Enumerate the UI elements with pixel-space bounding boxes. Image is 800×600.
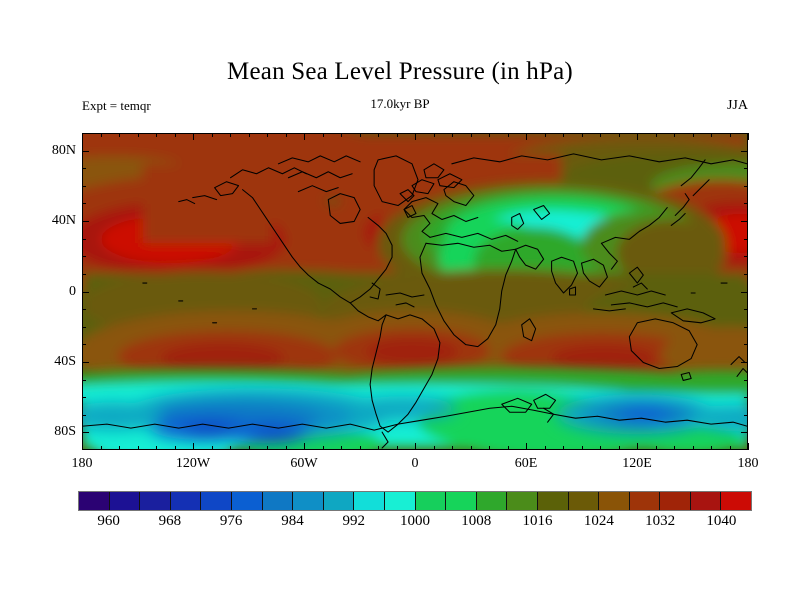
x-tick (434, 133, 435, 137)
colorbar-swatch (446, 492, 477, 510)
x-tick (748, 133, 749, 140)
y-tick (744, 203, 748, 204)
x-tick (582, 133, 583, 137)
colorbar (78, 491, 752, 511)
x-tick (286, 446, 287, 450)
colorbar-tick-label: 1040 (706, 513, 736, 530)
x-tick (489, 133, 490, 137)
colorbar-tick-label: 1016 (523, 513, 553, 530)
x-tick (193, 133, 194, 140)
x-axis-tick-label: 120W (176, 456, 210, 472)
y-tick (82, 151, 89, 152)
x-tick (730, 446, 731, 450)
y-tick (744, 274, 748, 275)
x-tick (674, 446, 675, 450)
y-tick (82, 432, 89, 433)
y-tick (744, 168, 748, 169)
x-tick (138, 446, 139, 450)
x-axis-tick-label: 180 (72, 456, 93, 472)
colorbar-swatch (416, 492, 447, 510)
x-tick (619, 446, 620, 450)
x-tick (452, 446, 453, 450)
x-tick (212, 133, 213, 137)
x-tick (693, 446, 694, 450)
colorbar-swatch (201, 492, 232, 510)
y-tick (82, 203, 86, 204)
y-tick (744, 239, 748, 240)
x-tick (526, 133, 527, 140)
y-tick (744, 344, 748, 345)
colorbar-swatch (110, 492, 141, 510)
colorbar-swatch (354, 492, 385, 510)
x-tick (323, 446, 324, 450)
y-tick (741, 151, 748, 152)
y-tick (744, 415, 748, 416)
colorbar-swatch (263, 492, 294, 510)
x-tick (508, 133, 509, 137)
x-tick (452, 133, 453, 137)
figure-canvas: Mean Sea Level Pressure (in hPa) 17.0kyr… (0, 0, 800, 600)
x-axis-tick-label: 60W (290, 456, 317, 472)
x-axis-tick-label: 60E (515, 456, 538, 472)
y-tick (82, 292, 89, 293)
x-tick (156, 446, 157, 450)
x-tick (563, 133, 564, 137)
x-tick (434, 446, 435, 450)
colorbar-tick-label: 1032 (645, 513, 675, 530)
x-tick (156, 133, 157, 137)
y-tick (82, 274, 86, 275)
colorbar-tick-label: 1000 (400, 513, 430, 530)
x-tick (656, 446, 657, 450)
x-tick (489, 446, 490, 450)
colorbar-swatch (477, 492, 508, 510)
y-tick (744, 397, 748, 398)
x-tick (415, 443, 416, 450)
x-tick (267, 446, 268, 450)
colorbar-swatch (140, 492, 171, 510)
x-tick (471, 133, 472, 137)
x-tick (249, 446, 250, 450)
x-tick (212, 446, 213, 450)
colorbar-tick-label: 1024 (584, 513, 614, 530)
chart-title: Mean Sea Level Pressure (in hPa) (0, 58, 800, 86)
colorbar-tick-label: 960 (97, 513, 120, 530)
colorbar-swatch (293, 492, 324, 510)
y-tick (82, 239, 86, 240)
x-tick (656, 133, 657, 137)
y-tick (744, 380, 748, 381)
colorbar-swatch (324, 492, 355, 510)
y-tick (744, 256, 748, 257)
x-tick (119, 133, 120, 137)
colorbar-swatch (691, 492, 722, 510)
x-axis-tick-label: 120E (622, 456, 652, 472)
x-tick (101, 133, 102, 137)
y-tick (82, 344, 86, 345)
y-tick (82, 309, 86, 310)
colorbar-swatch (232, 492, 263, 510)
x-tick (674, 133, 675, 137)
x-tick (637, 133, 638, 140)
colorbar-swatch (630, 492, 661, 510)
colorbar-tick-label: 1008 (461, 513, 491, 530)
y-tick (82, 168, 86, 169)
y-tick (82, 221, 89, 222)
y-tick (82, 362, 89, 363)
x-tick (471, 446, 472, 450)
y-axis-tick-label: 40N (34, 213, 76, 229)
x-tick (175, 446, 176, 450)
colorbar-swatch (569, 492, 600, 510)
y-tick (82, 327, 86, 328)
season-label: JJA (727, 98, 748, 114)
x-tick (619, 133, 620, 137)
y-tick (82, 415, 86, 416)
x-tick (82, 443, 83, 450)
y-tick (741, 292, 748, 293)
x-tick (249, 133, 250, 137)
x-tick (693, 133, 694, 137)
colorbar-tick-label: 992 (342, 513, 365, 530)
colorbar-tick-label: 968 (159, 513, 182, 530)
x-tick (415, 133, 416, 140)
x-tick (119, 446, 120, 450)
x-tick (582, 446, 583, 450)
x-tick (711, 446, 712, 450)
colorbar-tick-label: 984 (281, 513, 304, 530)
x-axis-tick-label: 180 (738, 456, 759, 472)
x-tick (230, 133, 231, 137)
x-tick (711, 133, 712, 137)
colorbar-swatch (385, 492, 416, 510)
x-tick (101, 446, 102, 450)
x-tick (378, 133, 379, 137)
y-tick (744, 327, 748, 328)
y-axis-tick-label: 0 (34, 284, 76, 300)
colorbar-swatch (171, 492, 202, 510)
x-tick (378, 446, 379, 450)
y-tick (82, 397, 86, 398)
x-tick (360, 446, 361, 450)
colorbar-swatch (721, 492, 751, 510)
y-tick (744, 309, 748, 310)
colorbar-swatch (79, 492, 110, 510)
y-tick (744, 186, 748, 187)
x-tick (637, 443, 638, 450)
x-tick (508, 446, 509, 450)
x-tick (175, 133, 176, 137)
x-tick (304, 443, 305, 450)
y-tick (82, 380, 86, 381)
x-tick (341, 133, 342, 137)
map-plot-area (82, 133, 748, 450)
x-tick (397, 133, 398, 137)
colorbar-swatch (507, 492, 538, 510)
x-tick (397, 446, 398, 450)
colorbar-tick-label: 976 (220, 513, 243, 530)
x-tick (545, 133, 546, 137)
y-axis-tick-label: 80N (34, 143, 76, 159)
x-tick (193, 443, 194, 450)
x-tick (526, 443, 527, 450)
colorbar-swatch (538, 492, 569, 510)
x-tick (82, 133, 83, 140)
x-tick (341, 446, 342, 450)
x-tick (600, 133, 601, 137)
x-tick (267, 133, 268, 137)
x-tick (730, 133, 731, 137)
experiment-label: Expt = temqr (82, 98, 151, 114)
colorbar-swatch (660, 492, 691, 510)
y-tick (741, 432, 748, 433)
x-tick (748, 443, 749, 450)
y-tick (741, 362, 748, 363)
x-tick (230, 446, 231, 450)
x-tick (323, 133, 324, 137)
pressure-field (83, 134, 747, 449)
x-tick (138, 133, 139, 137)
y-tick (741, 221, 748, 222)
x-tick (600, 446, 601, 450)
x-tick (360, 133, 361, 137)
x-tick (563, 446, 564, 450)
y-axis-tick-label: 80S (34, 424, 76, 440)
colorbar-swatch (599, 492, 630, 510)
x-tick (286, 133, 287, 137)
x-axis-tick-label: 0 (412, 456, 419, 472)
x-tick (304, 133, 305, 140)
y-tick (82, 256, 86, 257)
y-tick (82, 186, 86, 187)
y-axis-tick-label: 40S (34, 354, 76, 370)
x-tick (545, 446, 546, 450)
